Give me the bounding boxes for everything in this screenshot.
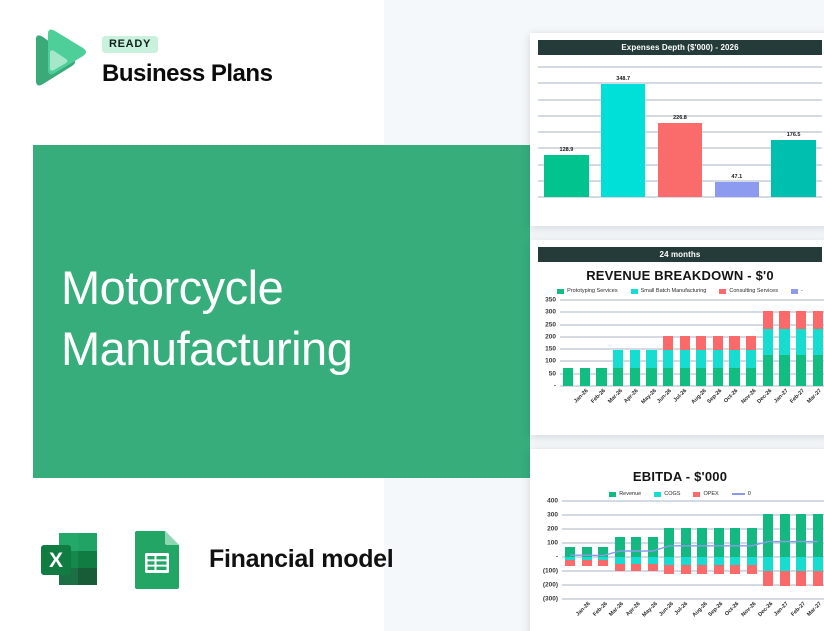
bar[interactable] <box>658 123 702 197</box>
bar-value-label: 128.9 <box>560 147 574 153</box>
x-axis-tick-label: May-26 <box>640 388 657 405</box>
bar-segment-negative <box>796 571 806 586</box>
x-axis-tick-label: Nov-26 <box>741 601 758 618</box>
bar-slot <box>560 300 577 386</box>
ebitda-chart-title: EBITDA - $'000 <box>530 469 824 484</box>
bar-slot <box>627 300 644 386</box>
revenue-period-header: 24 months <box>538 247 822 262</box>
bar-segment <box>713 350 723 367</box>
x-axis-tick-label: Apr-26 <box>625 601 642 618</box>
bar-segment-negative <box>598 560 608 566</box>
bar-segment <box>746 368 756 386</box>
revenue-plot-area: 35030025020015010050-Jan-26Feb-26Mar-26A… <box>530 294 824 412</box>
bar-segment-positive <box>730 528 740 557</box>
brand-text-block: READY Business Plans <box>102 26 272 88</box>
x-axis-tick-label: Jul-26 <box>673 388 688 403</box>
stacked-bar[interactable] <box>663 336 673 386</box>
ebitda-plot-area: 400300200100-(100)(200)(300)Jan-26Feb-26… <box>530 497 824 627</box>
bar-segment-negative <box>664 557 674 565</box>
bar-segment <box>630 350 640 367</box>
bar-segment <box>796 311 806 329</box>
stacked-bar[interactable] <box>763 311 773 386</box>
x-axis-tick-label: Mar-27 <box>806 601 823 618</box>
bar-segment-negative <box>648 564 658 571</box>
footer-label: Financial model <box>209 545 393 574</box>
bar-segment-negative <box>813 557 823 571</box>
x-axis-tick-label: Nov-26 <box>740 388 757 405</box>
bar-segment <box>696 336 706 350</box>
footer-row: X Financial model <box>33 523 393 595</box>
bar-segment <box>680 350 690 367</box>
bar-segment <box>646 368 656 386</box>
x-axis-tick-label: Jan-26 <box>575 601 592 618</box>
x-axis-tick-label: Oct-26 <box>723 388 739 404</box>
bar[interactable] <box>544 155 588 197</box>
bar-value-label: 176.5 <box>787 132 801 138</box>
stacked-bar[interactable] <box>630 350 640 386</box>
y-axis-tick-label: - <box>530 554 558 561</box>
bar[interactable] <box>601 84 645 197</box>
bar-segment-positive <box>598 547 608 558</box>
bar-segment <box>613 368 623 386</box>
bar-segment-positive <box>582 547 592 558</box>
stacked-bar[interactable] <box>580 368 590 386</box>
chart-card-revenue-breakdown[interactable]: 24 months REVENUE BREAKDOWN - $'0 Protot… <box>530 240 824 435</box>
bar-segment <box>696 368 706 386</box>
bar-segment-negative <box>747 565 757 574</box>
bar-segment <box>813 355 823 386</box>
bar-segment-positive <box>681 528 691 557</box>
y-axis-tick-label: (300) <box>530 596 558 603</box>
gridline <box>562 599 824 600</box>
gridline <box>562 501 824 502</box>
bar-slot <box>643 300 660 386</box>
bar-segment <box>779 355 789 386</box>
bar-segment <box>613 350 623 367</box>
bar-slot <box>610 300 627 386</box>
y-axis-tick-label: (100) <box>530 568 558 575</box>
x-axis-tick-label: Feb-26 <box>592 601 609 618</box>
bar-segment-negative <box>763 557 773 571</box>
bar-slot <box>660 300 677 386</box>
bar-segment <box>813 311 823 329</box>
bar-slot: 47.1 <box>708 67 765 197</box>
bar-segment-negative <box>780 571 790 586</box>
bar-segment-negative <box>714 565 724 574</box>
y-axis-tick-label: 250 <box>530 321 556 328</box>
bar-segment-negative <box>747 557 757 565</box>
bar-segment-negative <box>648 557 658 564</box>
bar-slot <box>676 300 693 386</box>
bar-segment-positive <box>631 537 641 557</box>
x-axis-tick-label: Feb-27 <box>790 601 807 618</box>
bar-segment <box>696 350 706 367</box>
bar-segment-negative <box>615 557 625 564</box>
expenses-bars: 128.9348.7226.847.1176.5 <box>538 67 822 197</box>
x-axis-tick-label: Jun-26 <box>658 601 675 618</box>
bar-segment-negative <box>631 557 641 564</box>
bar-slot <box>793 300 810 386</box>
bar-segment-negative <box>780 557 790 571</box>
bar-segment-positive <box>796 514 806 557</box>
bar-slot: 128.9 <box>538 67 595 197</box>
ready-badge: READY <box>102 36 158 53</box>
bar-segment <box>713 368 723 386</box>
stacked-bar[interactable] <box>613 350 623 386</box>
brand-name: Business Plans <box>102 60 272 88</box>
bar-segment <box>680 368 690 386</box>
bar-segment <box>729 350 739 367</box>
bar-segment-positive <box>714 528 724 557</box>
y-axis-tick-label: 350 <box>530 297 556 304</box>
brand-block: READY Business Plans <box>26 26 272 92</box>
expenses-plot-area: 128.9348.7226.847.1176.5 <box>530 55 824 205</box>
y-axis-tick-label: 300 <box>530 309 556 316</box>
bar-segment <box>796 355 806 386</box>
stacked-bar[interactable] <box>696 336 706 386</box>
x-axis-tick-label: Feb-27 <box>790 388 807 405</box>
bar-segment <box>763 355 773 386</box>
bar-slot <box>809 300 824 386</box>
revenue-chart-title: REVENUE BREAKDOWN - $'0 <box>530 268 824 283</box>
x-axis-tick-label: Mar-26 <box>608 601 625 618</box>
google-sheets-icon <box>119 523 191 595</box>
x-axis-tick-label: Jan-27 <box>773 388 790 405</box>
bar[interactable] <box>771 140 815 197</box>
bar-segment <box>796 329 806 355</box>
bar-segment-negative <box>714 557 724 565</box>
bar-segment-positive <box>565 547 575 558</box>
bar-slot <box>593 300 610 386</box>
stacked-bar[interactable] <box>796 311 806 386</box>
bar-segment-negative <box>631 564 641 571</box>
bar-segment-positive <box>813 514 823 557</box>
legend-swatch <box>693 492 700 497</box>
stacked-bar[interactable] <box>646 350 656 386</box>
bar-segment-negative <box>615 564 625 571</box>
bar-segment <box>663 368 673 386</box>
page-title: Motorcycle Manufacturing <box>61 257 352 379</box>
bar-segment-positive <box>763 514 773 557</box>
x-axis-tick-label: Jul-26 <box>674 601 689 616</box>
stacked-bar[interactable] <box>746 336 756 386</box>
bar-segment-negative <box>730 557 740 565</box>
stacked-bar[interactable] <box>680 336 690 386</box>
bar-segment <box>763 311 773 329</box>
legend-swatch <box>631 289 638 294</box>
y-axis-tick-label: 300 <box>530 512 558 519</box>
bar-slot <box>760 300 777 386</box>
bar-segment <box>746 336 756 350</box>
bar-segment-negative <box>813 571 823 586</box>
play-triangle-logo-icon <box>26 26 92 92</box>
bar-segment <box>729 336 739 350</box>
x-axis-tick-label: Jan-26 <box>573 388 590 405</box>
x-axis-tick-label: Sep-26 <box>707 388 724 405</box>
bar-segment-negative <box>664 565 674 574</box>
bar-segment-negative <box>565 560 575 566</box>
legend-swatch <box>719 289 726 294</box>
stacked-bar[interactable] <box>813 311 823 386</box>
x-axis-tick-label: Dec-26 <box>756 388 773 405</box>
x-axis-tick-label: Mar-27 <box>806 388 823 405</box>
y-axis-tick-label: 150 <box>530 346 556 353</box>
x-axis-tick-label: Aug-26 <box>691 601 708 618</box>
stacked-bar[interactable] <box>713 336 723 386</box>
bar-slot: 226.8 <box>652 67 709 197</box>
bar-segment <box>563 368 573 386</box>
stacked-bar[interactable] <box>596 368 606 386</box>
stacked-bar[interactable] <box>779 311 789 386</box>
legend-swatch <box>654 492 661 497</box>
stacked-bar[interactable] <box>729 336 739 386</box>
y-axis-tick-label: (200) <box>530 582 558 589</box>
legend-swatch <box>557 289 564 294</box>
bar-value-label: 226.8 <box>673 115 687 121</box>
x-axis-tick-label: Dec-26 <box>757 601 774 618</box>
legend-swatch <box>609 492 616 497</box>
bar-slot: 348.7 <box>595 67 652 197</box>
bar-slot <box>710 300 727 386</box>
y-axis-tick-label: 100 <box>530 540 558 547</box>
x-axis-tick-label: Aug-26 <box>690 388 707 405</box>
bar-segment-positive <box>664 528 674 557</box>
x-axis-tick-label: Apr-26 <box>623 388 640 405</box>
y-axis-tick-label: - <box>530 383 556 390</box>
hero-panel: Motorcycle Manufacturing <box>33 145 530 478</box>
chart-card-expenses[interactable]: Expenses Depth ($'000) - 2026 128.9348.7… <box>530 33 824 226</box>
bar-segment-negative <box>763 571 773 586</box>
bar-segment-negative <box>582 560 592 566</box>
bar-segment <box>630 368 640 386</box>
bar-segment-positive <box>780 514 790 557</box>
x-axis-tick-label: Feb-26 <box>590 388 607 405</box>
bar-segment <box>813 329 823 355</box>
y-axis-tick-label: 50 <box>530 370 556 377</box>
y-axis-tick-label: 100 <box>530 358 556 365</box>
bar-segment <box>646 350 656 367</box>
legend-swatch <box>791 289 798 294</box>
bar-segment-negative <box>681 557 691 565</box>
bar-segment-negative <box>697 565 707 574</box>
bar-segment <box>596 368 606 386</box>
bar-segment-positive <box>648 537 658 557</box>
bar-value-label: 348.7 <box>616 76 630 82</box>
bar-segment <box>713 336 723 350</box>
bar-segment <box>663 336 673 350</box>
y-axis-tick-label: 400 <box>530 498 558 505</box>
stacked-bar[interactable] <box>563 368 573 386</box>
bar-segment <box>663 350 673 367</box>
bar-slot <box>726 300 743 386</box>
chart-card-ebitda[interactable]: EBITDA - $'000 RevenueCOGSOPEX0 40030020… <box>530 449 824 631</box>
y-axis-tick-label: 200 <box>530 333 556 340</box>
bar[interactable] <box>715 182 759 197</box>
x-axis-tick-label: Mar-26 <box>607 388 624 405</box>
bar-segment-positive <box>747 528 757 557</box>
expenses-chart-title: Expenses Depth ($'000) - 2026 <box>538 40 822 55</box>
bar-segment-negative <box>796 557 806 571</box>
bar-segment <box>779 329 789 355</box>
bar-segment <box>763 329 773 355</box>
revenue-bars <box>560 300 824 386</box>
x-axis-tick-label: Jun-26 <box>657 388 674 405</box>
bar-slot <box>743 300 760 386</box>
svg-text:X: X <box>49 549 63 572</box>
bar-segment <box>746 350 756 367</box>
x-axis-tick-label: May-26 <box>642 601 659 618</box>
x-axis-tick-label: Jan-27 <box>773 601 790 618</box>
bar-segment <box>680 336 690 350</box>
bar-segment-negative <box>681 565 691 574</box>
bar-slot <box>776 300 793 386</box>
bar-segment-positive <box>615 537 625 557</box>
x-axis-tick-label: Sep-26 <box>708 601 725 618</box>
bar-segment-negative <box>730 565 740 574</box>
bar-slot <box>577 300 594 386</box>
bar-segment <box>729 368 739 386</box>
bar-segment-positive <box>697 528 707 557</box>
y-axis-tick-label: 200 <box>530 526 558 533</box>
legend-line-swatch <box>732 493 745 495</box>
x-axis-tick-label: Oct-26 <box>724 601 740 617</box>
microsoft-excel-icon: X <box>33 523 105 595</box>
bar-slot: 176.5 <box>765 67 822 197</box>
bar-segment <box>779 311 789 329</box>
bar-value-label: 47.1 <box>731 174 742 180</box>
bar-segment <box>580 368 590 386</box>
bar-slot <box>693 300 710 386</box>
bar-segment-negative <box>697 557 707 565</box>
